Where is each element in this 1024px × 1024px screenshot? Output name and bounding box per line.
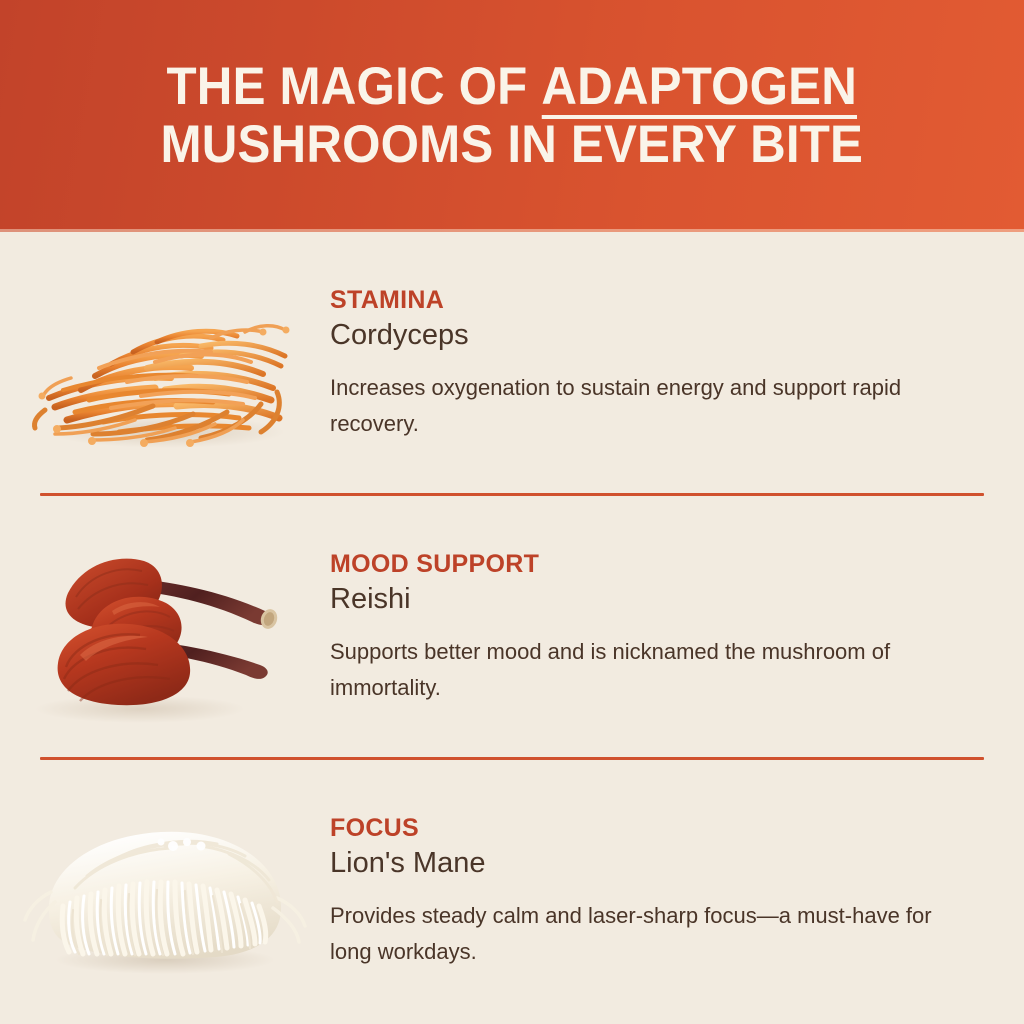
benefit-list: STAMINA Cordyceps Increases oxygenation … [0,232,1024,1024]
benefit-copy: FOCUS Lion's Mane Provides steady calm a… [330,815,1024,969]
species-name: Lion's Mane [330,847,978,881]
benefit-row-mood-support: MOOD SUPPORT Reishi Supports better mood… [0,496,1024,760]
benefit-description: Provides steady calm and laser-sharp foc… [330,898,955,969]
species-name: Reishi [330,583,978,617]
benefit-label: MOOD SUPPORT [330,551,978,579]
headline-underlined-word: ADAPTOGEN [542,58,858,116]
adaptogen-mushroom-infographic: THE MAGIC OF ADAPTOGEN MUSHROOMS IN EVER… [0,0,1024,1024]
headline-prefix: THE MAGIC OF [167,57,542,116]
headline-line-1: THE MAGIC OF ADAPTOGEN [161,58,864,116]
benefit-copy: MOOD SUPPORT Reishi Supports better mood… [330,551,1024,705]
benefit-description: Increases oxygenation to sustain energy … [330,370,955,441]
species-name: Cordyceps [330,319,978,353]
page-title: THE MAGIC OF ADAPTOGEN MUSHROOMS IN EVER… [161,58,864,174]
header-banner: THE MAGIC OF ADAPTOGEN MUSHROOMS IN EVER… [0,0,1024,232]
lions-mane-photo [0,777,330,1007]
reishi-photo [0,513,330,743]
benefit-label: FOCUS [330,815,978,843]
benefit-copy: STAMINA Cordyceps Increases oxygenation … [330,287,1024,441]
benefit-row-stamina: STAMINA Cordyceps Increases oxygenation … [0,232,1024,496]
headline-line-2: MUSHROOMS IN EVERY BITE [161,116,864,174]
benefit-row-focus: FOCUS Lion's Mane Provides steady calm a… [0,760,1024,1024]
benefit-label: STAMINA [330,287,978,315]
cordyceps-photo [0,249,330,479]
benefit-description: Supports better mood and is nicknamed th… [330,634,955,705]
